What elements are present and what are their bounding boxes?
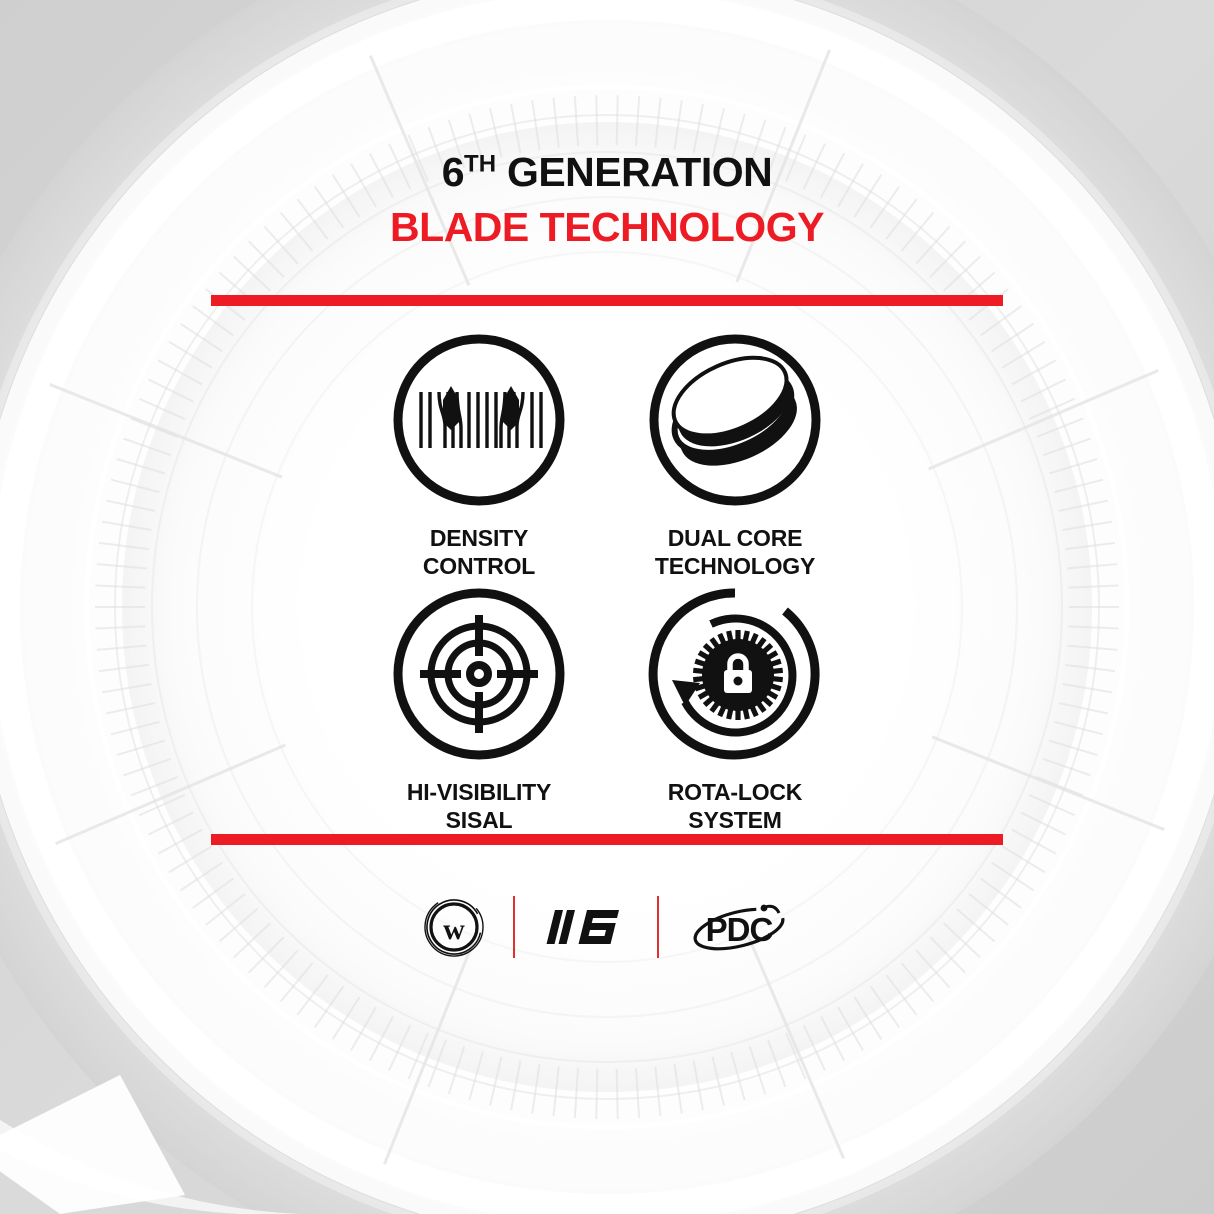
heading-line-one: 6TH GENERATION (390, 152, 824, 193)
feature-label: DUAL CORE TECHNOLOGY (655, 524, 815, 580)
feature-grid: DENSITY CONTROL DUAL CORE TECHNOLOGY (354, 330, 860, 834)
heading-line-two: BLADE TECHNOLOGY (390, 207, 824, 248)
feature-item-dual-core-technology[interactable]: DUAL CORE TECHNOLOGY (610, 330, 860, 580)
density-fibers-icon (389, 330, 569, 510)
w-monogram-logo[interactable]: w (423, 896, 485, 958)
page-title: 6TH GENERATION BLADE TECHNOLOGY (390, 152, 824, 248)
w-monogram-icon: w (423, 896, 485, 958)
feature-item-density-control[interactable]: DENSITY CONTROL (354, 330, 604, 580)
ii6-logo[interactable] (543, 902, 629, 952)
feature-label: HI-VISIBILITY SISAL (407, 778, 551, 834)
heading-generation-word: GENERATION (496, 149, 772, 195)
feature-item-rota-lock-system[interactable]: ROTA-LOCK SYSTEM (610, 584, 860, 834)
gear-lock-rotation-icon (645, 584, 825, 764)
footer-logo-bar: w PDC (423, 892, 791, 962)
divider-rule-top (211, 295, 1003, 306)
ii6-icon (543, 902, 629, 952)
divider-rule-bottom (211, 834, 1003, 845)
feature-label: ROTA-LOCK SYSTEM (668, 778, 802, 834)
crosshair-target-icon (389, 584, 569, 764)
logo-divider-one (513, 896, 515, 958)
logo-divider-two (657, 896, 659, 958)
svg-text:PDC: PDC (706, 911, 773, 948)
heading-generation-number: 6 (442, 149, 464, 195)
feature-item-hi-visibility-sisal[interactable]: HI-VISIBILITY SISAL (354, 584, 604, 834)
feature-label: DENSITY CONTROL (423, 524, 535, 580)
heading-ordinal-suffix: TH (464, 150, 496, 177)
stacked-discs-icon (645, 330, 825, 510)
svg-text:w: w (443, 913, 465, 946)
pdc-logo[interactable]: PDC (687, 899, 791, 955)
pdc-icon: PDC (687, 899, 791, 955)
